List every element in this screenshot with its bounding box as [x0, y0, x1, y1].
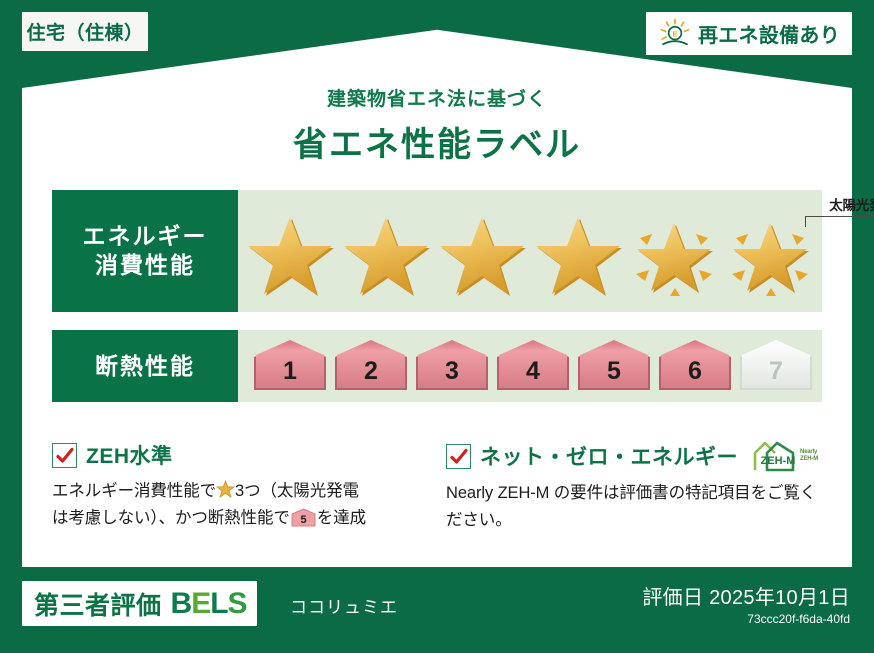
criteria-nze-title: ネット・ゼロ・エネルギー — [480, 441, 738, 471]
bels-certification-box: 第三者評価 BELS — [22, 581, 257, 626]
criteria-zeh-title: ZEH水準 — [86, 440, 173, 470]
bels-logo: BELS — [171, 587, 247, 621]
insulation-level-6: 6 — [657, 340, 733, 392]
criteria-net-zero-energy: ネット・ゼロ・エネルギー ZEH-M Nearly ZEH-M Nearly Z… — [446, 440, 828, 533]
zeh-m-sub-line1: Nearly — [800, 449, 817, 455]
energy-label-line1: エネルギー — [83, 222, 208, 251]
check-icon-nze — [446, 444, 471, 469]
inline-star-icon — [216, 480, 235, 499]
criteria-nze-body: Nearly ZEH-M の要件は評価書の特記項目をご覧ください。 — [446, 480, 828, 533]
criteria-zeh-standard: ZEH水準 エネルギー消費性能で3つ（太陽光発電は考慮しない）、かつ断熱性能で5… — [52, 440, 434, 533]
insulation-level-3: 3 — [414, 340, 490, 392]
energy-performance-row: エネルギー 消費性能 — [52, 190, 822, 312]
insulation-label-text: 断熱性能 — [95, 352, 195, 381]
criteria-nze-header: ネット・ゼロ・エネルギー ZEH-M Nearly ZEH-M — [446, 440, 828, 472]
insulation-level-3-number: 3 — [445, 357, 459, 392]
insulation-level-7-number: 7 — [769, 357, 783, 392]
renewable-equipment-tag: E 再エネ設備あり — [646, 12, 852, 55]
svg-text:ZEH-M: ZEH-M — [761, 455, 796, 467]
star-filled-2 — [342, 212, 434, 300]
insulation-performance-row: 断熱性能 1 — [52, 330, 822, 402]
insulation-level-6-number: 6 — [688, 357, 702, 392]
criteria-zeh-header: ZEH水準 — [52, 440, 434, 470]
zeh-m-logo-sub: Nearly ZEH-M — [800, 449, 818, 463]
third-party-evaluation-label: 第三者評価 — [34, 586, 162, 622]
bels-letter-e: E — [191, 587, 210, 620]
category-tag-label: 住宅（住棟） — [26, 18, 143, 45]
criteria-zeh-text-2: 3つ（太陽光発電 — [235, 482, 359, 500]
insulation-levels-area: 1 2 3 — [238, 330, 822, 402]
criteria-zeh-text-3: は考慮しない）、かつ断熱性能で — [52, 509, 290, 527]
category-tag: 住宅（住棟） — [22, 12, 148, 51]
evaluation-id: 73ccc20f-f6da-40fd — [642, 612, 850, 626]
evaluation-info: 評価日 2025年10月1日 73ccc20f-f6da-40fd — [642, 581, 850, 626]
insulation-level-group: 1 2 3 — [238, 340, 814, 392]
svg-text:E: E — [672, 29, 677, 38]
renewable-tag-label: 再エネ設備あり — [698, 19, 840, 48]
title-subtitle: 建築物省エネ法に基づく — [0, 84, 874, 111]
star-filled-1 — [246, 212, 338, 300]
insulation-level-1: 1 — [252, 340, 328, 392]
criteria-zeh-text-1: エネルギー消費性能で — [52, 482, 216, 500]
energy-stars-area: 太陽光発電(自家消費)分 — [238, 190, 822, 312]
zeh-m-logo: ZEH-M Nearly ZEH-M — [751, 440, 818, 472]
energy-label-line2: 消費性能 — [95, 251, 195, 280]
star-filled-4 — [534, 212, 626, 300]
title-block: 建築物省エネ法に基づく 省エネ性能ラベル — [0, 84, 874, 166]
insulation-level-4: 4 — [495, 340, 571, 392]
bels-letter-l: L — [210, 587, 227, 620]
evaluation-date: 評価日 2025年10月1日 — [642, 581, 850, 610]
insulation-level-5-number: 5 — [607, 357, 621, 392]
label-footer: 第三者評価 BELS ココリュミエ 評価日 2025年10月1日 73ccc20… — [0, 567, 874, 653]
sun-renewable-icon: E — [658, 17, 692, 51]
star-solar-6 — [726, 212, 818, 300]
building-owner-name: ココリュミエ — [290, 593, 398, 618]
insulation-level-7: 7 — [738, 340, 814, 392]
check-icon-zeh — [52, 443, 77, 468]
inline-house-badge-icon: 5 — [290, 508, 317, 527]
insulation-level-4-number: 4 — [526, 357, 540, 392]
svg-text:5: 5 — [300, 514, 306, 526]
star-solar-5 — [630, 212, 722, 300]
insulation-level-2: 2 — [333, 340, 409, 392]
title-main: 省エネ性能ラベル — [0, 117, 874, 166]
criteria-section: ZEH水準 エネルギー消費性能で3つ（太陽光発電は考慮しない）、かつ断熱性能で5… — [52, 440, 828, 533]
insulation-level-5: 5 — [576, 340, 652, 392]
criteria-zeh-text-4: を達成 — [317, 509, 366, 527]
star-rating-group — [238, 212, 818, 300]
energy-performance-label: 住宅（住棟） E 再エネ設備あり 建築物省エネ法に基づく 省エネ性能 — [0, 0, 874, 653]
bels-letter-s: S — [228, 587, 247, 620]
star-filled-3 — [438, 212, 530, 300]
bels-letter-b: B — [171, 587, 192, 620]
criteria-zeh-body: エネルギー消費性能で3つ（太陽光発電は考慮しない）、かつ断熱性能で5を達成 — [52, 478, 434, 531]
energy-performance-label: エネルギー 消費性能 — [52, 190, 238, 312]
zeh-m-sub-line2: ZEH-M — [800, 456, 818, 462]
insulation-level-1-number: 1 — [283, 357, 297, 392]
insulation-performance-label: 断熱性能 — [52, 330, 238, 402]
insulation-level-2-number: 2 — [364, 357, 378, 392]
